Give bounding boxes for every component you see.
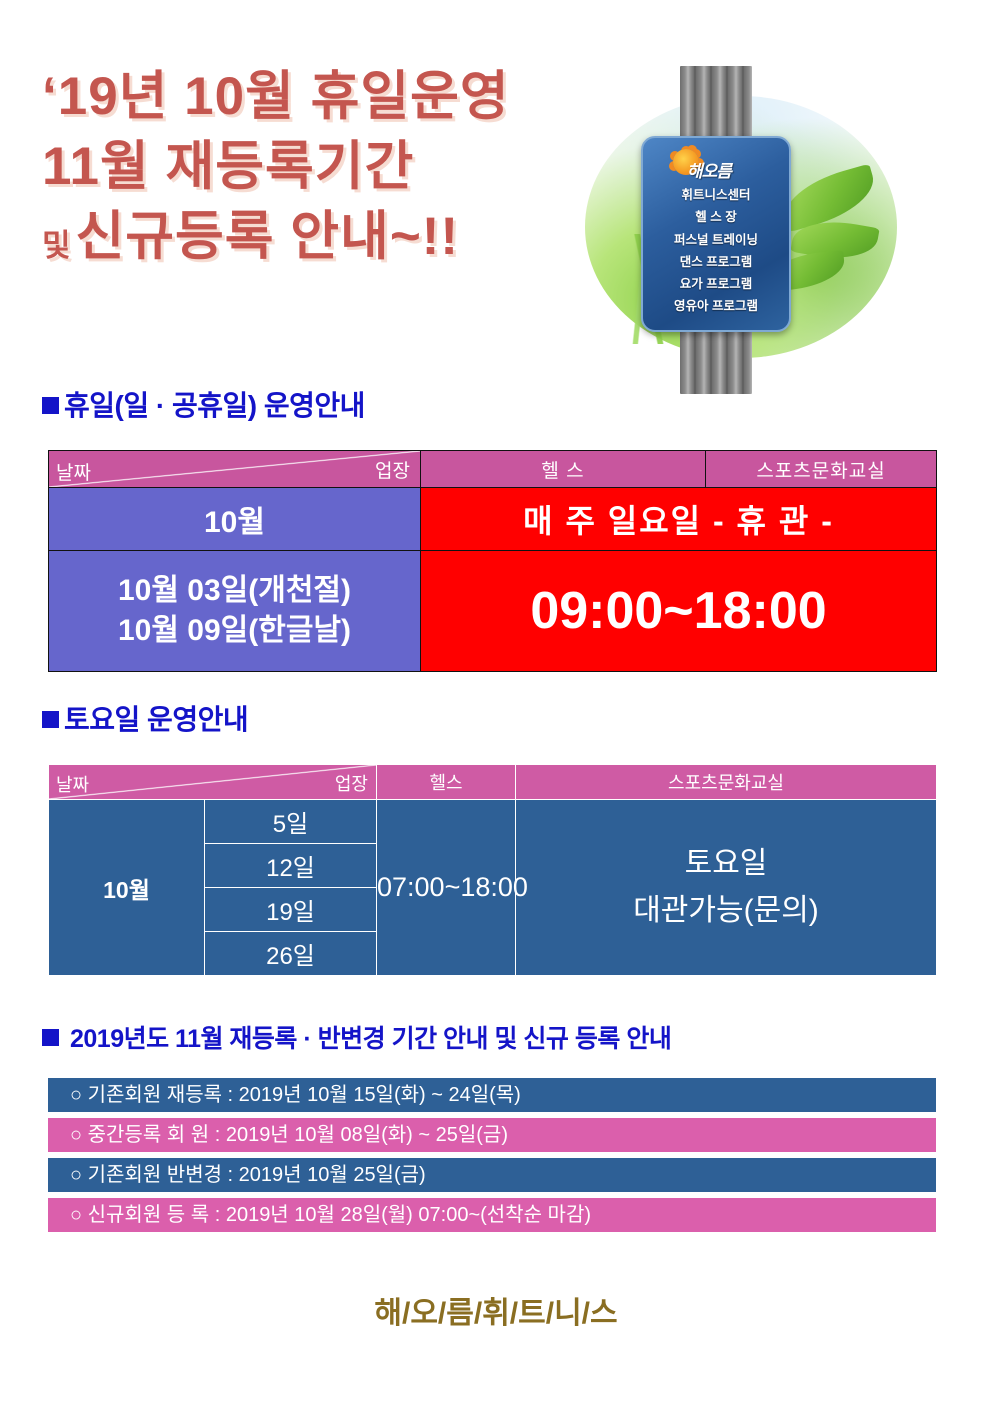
fitness-center-logo-photo: 해오름 휘트니스센터 헬 스 장 퍼스널 트레이닝 댄스 프로그램 요가 프로그… bbox=[585, 58, 905, 394]
title-line-3: 및신규등록 안내~!! bbox=[42, 202, 602, 272]
brand-name: 해오름 bbox=[687, 157, 731, 182]
sign-line-infant-program: 영유아 프로그램 bbox=[643, 295, 789, 317]
sign-line-fitness-center: 휘트니스센터 bbox=[643, 184, 789, 206]
title-line-1: ‘19년 10월 휴일운영 bbox=[42, 62, 602, 132]
header-label-venue: 업장 bbox=[375, 456, 410, 483]
table-row: 10월 매 주 일요일 - 휴 관 - bbox=[49, 488, 937, 551]
sign-line-personal-training: 퍼스널 트레이닝 bbox=[643, 229, 789, 251]
cell-sunday-closed: 매 주 일요일 - 휴 관 - bbox=[421, 488, 937, 551]
header-cell-date-venue: 날짜 업장 bbox=[49, 451, 421, 488]
signboard: 해오름 휘트니스센터 헬 스 장 퍼스널 트레이닝 댄스 프로그램 요가 프로그… bbox=[641, 136, 791, 332]
list-item: ○ 신규회원 등 록 : 2019년 10월 28일(월) 07:00~(선착순… bbox=[48, 1198, 936, 1232]
cell-day: 12일 bbox=[205, 844, 377, 888]
title-line-3-prefix: 및 bbox=[42, 228, 72, 263]
holiday-operation-table: 날짜 업장 헬 스 스포츠문화교실 10월 매 주 일요일 - 휴 관 - 10… bbox=[48, 450, 937, 672]
title-line-2: 11월 재등록기간 bbox=[42, 132, 602, 202]
section-heading-saturday-text: 토요일 운영안내 bbox=[64, 704, 248, 735]
cell-month-october: 10월 bbox=[49, 800, 205, 976]
diagonal-divider bbox=[49, 451, 420, 487]
section-heading-renewal: 2019년도 11월 재등록 · 반변경 기간 안내 및 신규 등록 안내 bbox=[42, 1019, 671, 1055]
section-heading-holiday-text: 휴일(일 · 공휴일) 운영안내 bbox=[64, 390, 365, 421]
section-heading-holiday: 휴일(일 · 공휴일) 운영안내 bbox=[42, 384, 365, 424]
list-item: ○ 중간등록 회 원 : 2019년 10월 08일(화) ~ 25일(금) bbox=[48, 1118, 936, 1152]
saturday-operation-table: 날짜 업장 헬스 스포츠문화교실 10월 5일 07:00~18:00 토요일 … bbox=[48, 764, 937, 976]
table-row: 10월 03일(개천절) 10월 09일(한글날) 09:00~18:00 bbox=[49, 551, 937, 672]
header-cell-health: 헬스 bbox=[377, 765, 516, 800]
cell-public-holidays: 10월 03일(개천절) 10월 09일(한글날) bbox=[49, 551, 421, 672]
table-header-row: 날짜 업장 헬 스 스포츠문화교실 bbox=[49, 451, 937, 488]
header-label-date: 날짜 bbox=[56, 771, 89, 797]
cell-health-hours: 07:00~18:00 bbox=[377, 800, 516, 976]
header-label-venue: 업장 bbox=[335, 770, 368, 796]
holiday-date-foundation-day: 10월 03일(개천절) bbox=[49, 571, 420, 612]
holiday-date-hangul-day: 10월 09일(한글날) bbox=[49, 611, 420, 652]
list-item: ○ 기존회원 반변경 : 2019년 10월 25일(금) bbox=[48, 1158, 936, 1192]
title-line-3-text: 신규등록 안내~!! bbox=[76, 207, 460, 266]
header-cell-health: 헬 스 bbox=[421, 451, 706, 488]
cell-sports-rental: 토요일 대관가능(문의) bbox=[516, 800, 937, 976]
poster-title: ‘19년 10월 휴일운영 11월 재등록기간 및신규등록 안내~!! bbox=[42, 62, 602, 272]
sign-line-yoga-program: 요가 프로그램 bbox=[643, 273, 789, 295]
footer-brand: 해/오/름/휘/트/니/스 bbox=[0, 1288, 992, 1332]
cell-month-october: 10월 bbox=[49, 488, 421, 551]
sports-line-rental-inquiry: 대관가능(문의) bbox=[516, 888, 936, 935]
table-header-row: 날짜 업장 헬스 스포츠문화교실 bbox=[49, 765, 937, 800]
header-cell-sports: 스포츠문화교실 bbox=[706, 451, 937, 488]
bullet-square-icon bbox=[42, 397, 59, 414]
cell-day: 5일 bbox=[205, 800, 377, 844]
poster-header: ‘19년 10월 휴일운영 11월 재등록기간 및신규등록 안내~!! 해오름 … bbox=[0, 0, 992, 400]
list-item: ○ 기존회원 재등록 : 2019년 10월 15일(화) ~ 24일(목) bbox=[48, 1078, 936, 1112]
header-cell-date-venue: 날짜 업장 bbox=[49, 765, 377, 800]
cell-day: 26일 bbox=[205, 932, 377, 976]
sign-line-dance-program: 댄스 프로그램 bbox=[643, 251, 789, 273]
bullet-square-icon bbox=[42, 1029, 59, 1046]
section-heading-saturday: 토요일 운영안내 bbox=[42, 698, 248, 738]
diagonal-divider bbox=[49, 765, 376, 799]
header-cell-sports: 스포츠문화교실 bbox=[516, 765, 937, 800]
bullet-square-icon bbox=[42, 711, 59, 728]
cell-holiday-hours: 09:00~18:00 bbox=[421, 551, 937, 672]
brand-logo: 해오름 bbox=[643, 146, 789, 182]
table-row: 10월 5일 07:00~18:00 토요일 대관가능(문의) bbox=[49, 800, 937, 844]
header-label-date: 날짜 bbox=[56, 458, 91, 485]
sign-line-gym: 헬 스 장 bbox=[643, 206, 789, 228]
sports-line-saturday: 토요일 bbox=[516, 841, 936, 888]
section-heading-renewal-text: 2019년도 11월 재등록 · 반변경 기간 안내 및 신규 등록 안내 bbox=[70, 1025, 671, 1053]
cell-day: 19일 bbox=[205, 888, 377, 932]
